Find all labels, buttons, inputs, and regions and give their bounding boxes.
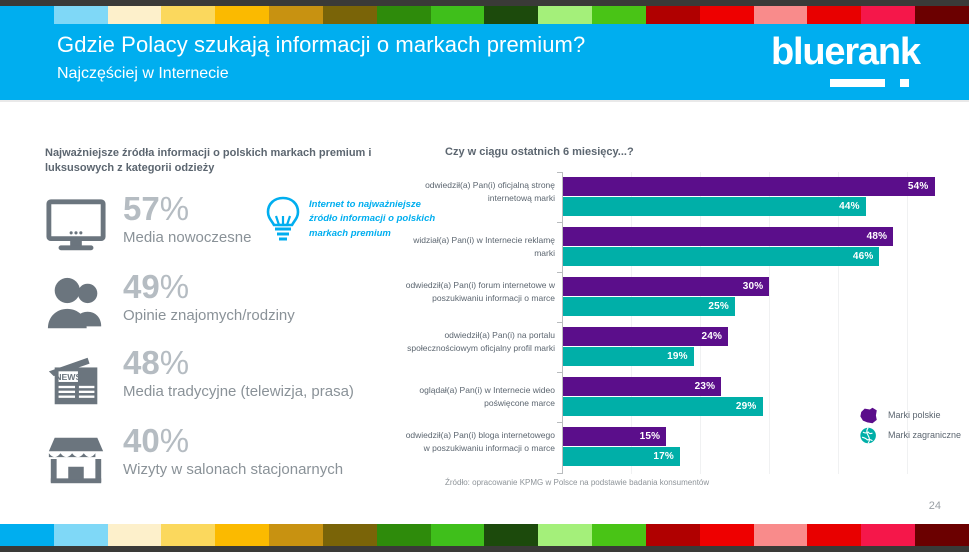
color-strip-segment <box>377 524 431 546</box>
people-icon <box>45 274 107 336</box>
bar-value: 48% <box>867 231 894 242</box>
bar-marki-polskie: 24% <box>563 327 728 346</box>
bar-value: 46% <box>853 251 880 262</box>
poland-map-icon <box>858 406 880 425</box>
color-strip-segment <box>592 524 646 546</box>
category-label: widział(a) Pan(i) w Internecie reklamę m… <box>405 234 555 260</box>
header-band: Gdzie Polacy szukają informacji o markac… <box>0 24 969 100</box>
slide: Gdzie Polacy szukają informacji o markac… <box>0 0 969 552</box>
legend-item-marki-polskie: Marki polskie <box>858 405 961 425</box>
stat-value: 40% <box>123 424 189 457</box>
color-strip-segment <box>269 524 323 546</box>
bar-value: 24% <box>701 331 728 342</box>
page-number: 24 <box>929 500 941 512</box>
legend-label: Marki polskie <box>880 410 941 420</box>
stat-item-opinie-znajomych: 49% Opinie znajomych/rodziny <box>45 274 435 346</box>
axis-tick <box>557 473 562 474</box>
stat-label: Wizyty w salonach stacjonarnych <box>123 461 343 478</box>
category-label: odwiedził(a) Pan(i) forum internetowe w … <box>405 279 555 305</box>
category-label: oglądał(a) Pan(i) w Internecie wideo poś… <box>405 384 555 410</box>
stat-value: 49% <box>123 270 189 303</box>
axis-tick <box>557 422 562 423</box>
page-subtitle: Najczęściej w Internecie <box>57 65 229 83</box>
color-strip-segment <box>215 524 269 546</box>
color-strip-segment <box>0 524 54 546</box>
monitor-icon <box>45 196 107 258</box>
bar-marki-zagraniczne: 44% <box>563 197 866 216</box>
legend-item-marki-zagraniczne: Marki zagraniczne <box>858 425 961 445</box>
bar-value: 44% <box>839 201 866 212</box>
slide-body: Najważniejsze źródła informacji o polski… <box>0 102 969 522</box>
lightbulb-icon <box>263 194 303 242</box>
chart-title: Czy w ciągu ostatnich 6 miesięcy...? <box>445 146 634 158</box>
bar-marki-polskie: 30% <box>563 277 769 296</box>
stat-item-wizyty-salony: 40% Wizyty w salonach stacjonarnych <box>45 428 435 500</box>
stat-label: Opinie znajomych/rodziny <box>123 307 295 324</box>
bar-value: 29% <box>736 401 763 412</box>
globe-icon <box>858 426 880 445</box>
color-strip-segment <box>861 524 915 546</box>
color-strip-segment <box>807 524 861 546</box>
bar-marki-polskie: 48% <box>563 227 893 246</box>
axis-tick <box>557 172 562 173</box>
stat-value: 48% <box>123 346 189 379</box>
page-title: Gdzie Polacy szukają informacji o markac… <box>57 32 585 58</box>
stat-item-media-tradycyjne: NEWS 48% Media tradycyjne (telewizja, pr… <box>45 350 435 422</box>
color-strip-segment <box>323 524 377 546</box>
bar-marki-polskie: 15% <box>563 427 666 446</box>
gridline <box>700 172 701 474</box>
bottom-color-strip <box>0 524 969 546</box>
bluerank-logo: bluerank <box>771 33 951 93</box>
gridline <box>838 172 839 474</box>
bar-marki-zagraniczne: 29% <box>563 397 763 416</box>
logo-underline-bar <box>830 79 885 87</box>
axis-tick <box>557 272 562 273</box>
color-strip-segment <box>915 524 969 546</box>
bar-marki-zagraniczne: 17% <box>563 447 680 466</box>
axis-tick <box>557 222 562 223</box>
color-strip-segment <box>54 524 108 546</box>
stat-label: Media tradycyjne (telewizja, prasa) <box>123 383 354 400</box>
color-strip-segment <box>700 524 754 546</box>
bar-value: 23% <box>695 381 722 392</box>
category-label: odwiedził(a) Pan(i) oficjalną stronę int… <box>405 179 555 205</box>
bar-marki-polskie: 54% <box>563 177 935 196</box>
stat-value: 57% <box>123 192 189 225</box>
right-panel: Czy w ciągu ostatnich 6 miesięcy...? <box>440 102 969 522</box>
left-heading: Najważniejsze źródła informacji o polski… <box>45 146 375 176</box>
bar-marki-zagraniczne: 46% <box>563 247 879 266</box>
color-strip-segment <box>538 524 592 546</box>
color-strip-segment <box>431 524 485 546</box>
bar-value: 30% <box>743 281 770 292</box>
category-label: odwiedził(a) Pan(i) bloga internetowego … <box>405 429 555 455</box>
bar-value: 17% <box>653 451 680 462</box>
bar-marki-zagraniczne: 19% <box>563 347 694 366</box>
bottom-frame <box>0 546 969 552</box>
gridline <box>769 172 770 474</box>
bar-marki-polskie: 23% <box>563 377 721 396</box>
color-strip-segment <box>646 524 700 546</box>
chart-legend: Marki polskie Marki zagraniczne <box>858 405 961 445</box>
logo-dot-bar <box>900 79 909 87</box>
logo-wordmark: bluerank <box>771 31 920 74</box>
left-panel: Najważniejsze źródła informacji o polski… <box>0 102 440 522</box>
svg-text:NEWS: NEWS <box>55 372 81 382</box>
stat-label: Media nowoczesne <box>123 229 251 246</box>
bar-value: 19% <box>667 351 694 362</box>
newspaper-icon: NEWS <box>45 350 107 412</box>
color-strip-segment <box>108 524 162 546</box>
color-strip-segment <box>754 524 808 546</box>
axis-tick <box>557 322 562 323</box>
bar-marki-zagraniczne: 25% <box>563 297 735 316</box>
chart-source-note: Źródło: opracowanie KPMG w Polsce na pod… <box>445 478 709 487</box>
bar-value: 25% <box>708 301 735 312</box>
shop-icon <box>45 428 107 490</box>
legend-label: Marki zagraniczne <box>880 430 961 440</box>
category-label: odwiedził(a) Pan(i) na portalu społeczno… <box>405 329 555 355</box>
bar-value: 54% <box>908 181 935 192</box>
axis-tick <box>557 372 562 373</box>
color-strip-segment <box>484 524 538 546</box>
color-strip-segment <box>161 524 215 546</box>
bar-value: 15% <box>640 431 667 442</box>
